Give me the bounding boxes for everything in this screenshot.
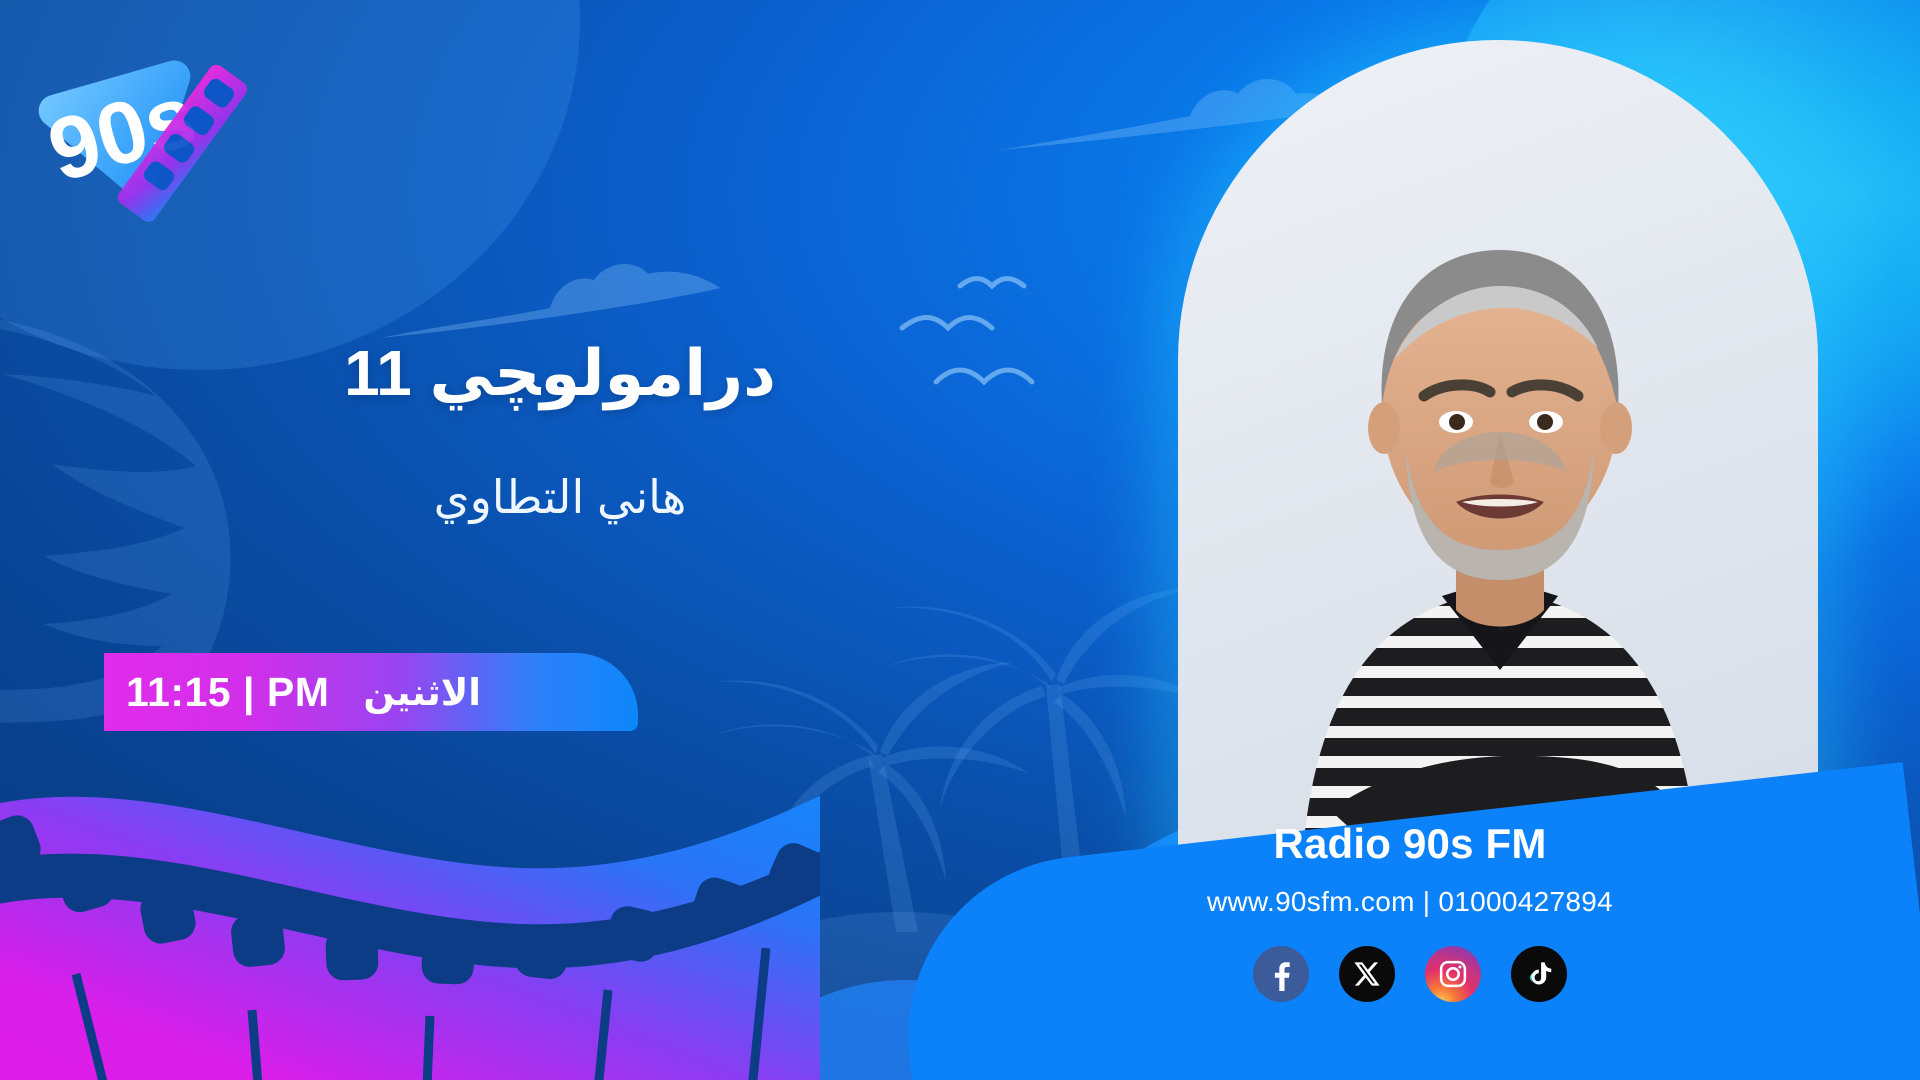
cloud-icon [380,240,800,350]
instagram-icon[interactable] [1425,946,1481,1002]
schedule-day: الاثنين [363,671,481,714]
schedule-badge[interactable]: 11:15 | PM الاثنين [104,653,638,731]
program-host: هاني التطاوي [0,470,1120,524]
film-strip-decoration [0,690,820,1080]
program-title: دراموﻟﻮﭽﻲ 11 [0,336,1120,411]
schedule-time: 11:15 | PM [126,669,329,716]
broadcast-schedule-card: 90s [0,0,1920,1080]
social-links [1253,946,1567,1002]
tiktok-icon[interactable] [1511,946,1567,1002]
90s-logo[interactable]: 90s [34,48,249,228]
facebook-icon[interactable] [1253,946,1309,1002]
station-name: Radio 90s FM [1273,820,1546,868]
x-twitter-icon[interactable] [1339,946,1395,1002]
footer-content: Radio 90s FM www.90sfm.com | 01000427894 [900,780,1920,1080]
station-contact: www.90sfm.com | 01000427894 [1207,886,1613,918]
